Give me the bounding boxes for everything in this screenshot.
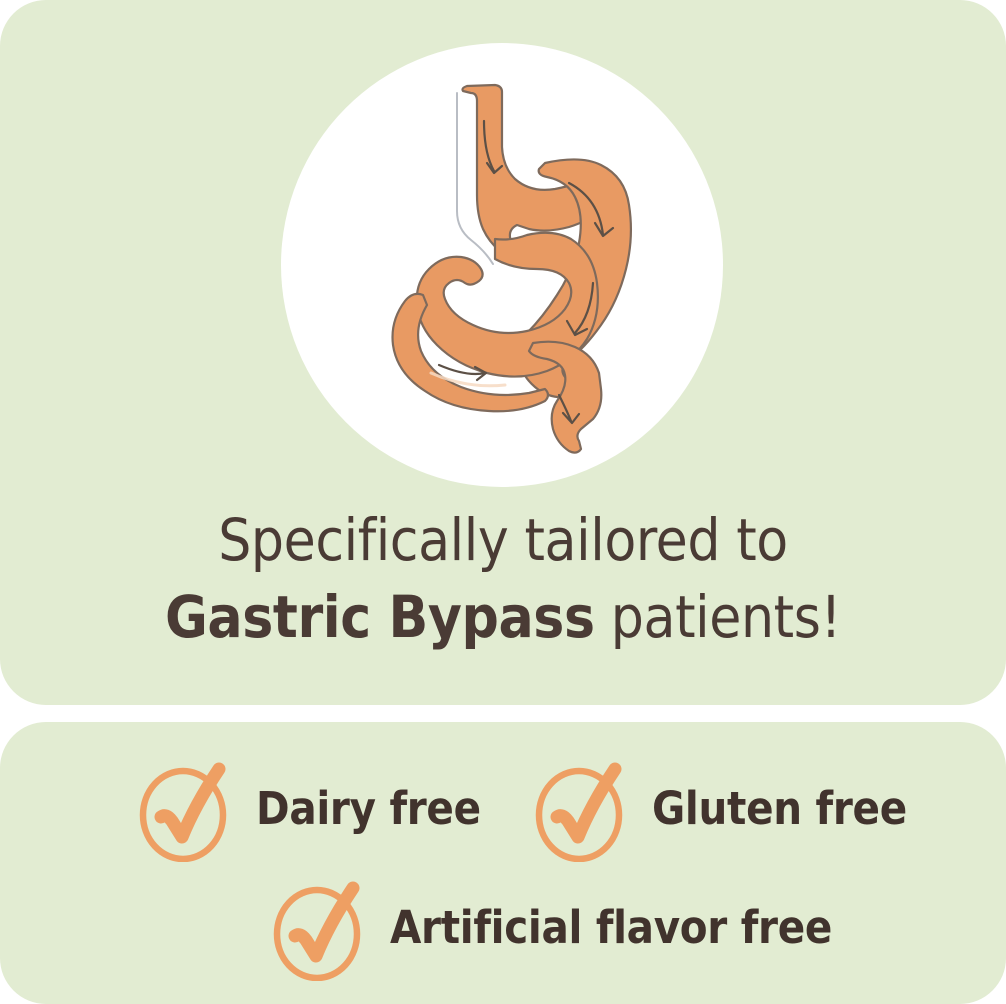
feature-item-artificial-flavor-free: Artificial flavor free <box>267 874 832 981</box>
headline-line-one: Specifically tailored to <box>0 505 1006 576</box>
hero-illustration-circle <box>281 43 723 487</box>
hero-panel: Specifically tailored to Gastric Bypass … <box>0 0 1006 705</box>
headline: Specifically tailored to Gastric Bypass … <box>0 505 1006 653</box>
feature-list: Dairy free Gluten free <box>0 722 1006 1004</box>
features-panel: Dairy free Gluten free <box>0 722 1006 1004</box>
feature-label: Dairy free <box>256 782 481 835</box>
product-feature-infographic: Specifically tailored to Gastric Bypass … <box>0 0 1006 1004</box>
feature-item-dairy-free: Dairy free <box>133 755 481 862</box>
feature-label: Artificial flavor free <box>390 901 832 954</box>
feature-label: Gluten free <box>652 782 907 835</box>
headline-line-two: Gastric Bypass patients! <box>0 582 1006 653</box>
gastric-bypass-stomach-illustration <box>281 43 723 487</box>
headline-line-two-rest: patients! <box>595 583 841 651</box>
headline-emphasis: Gastric Bypass <box>165 583 595 651</box>
check-circle-icon <box>529 755 632 862</box>
feature-item-gluten-free: Gluten free <box>529 755 907 862</box>
check-circle-icon <box>133 755 236 862</box>
check-circle-icon <box>267 874 370 981</box>
